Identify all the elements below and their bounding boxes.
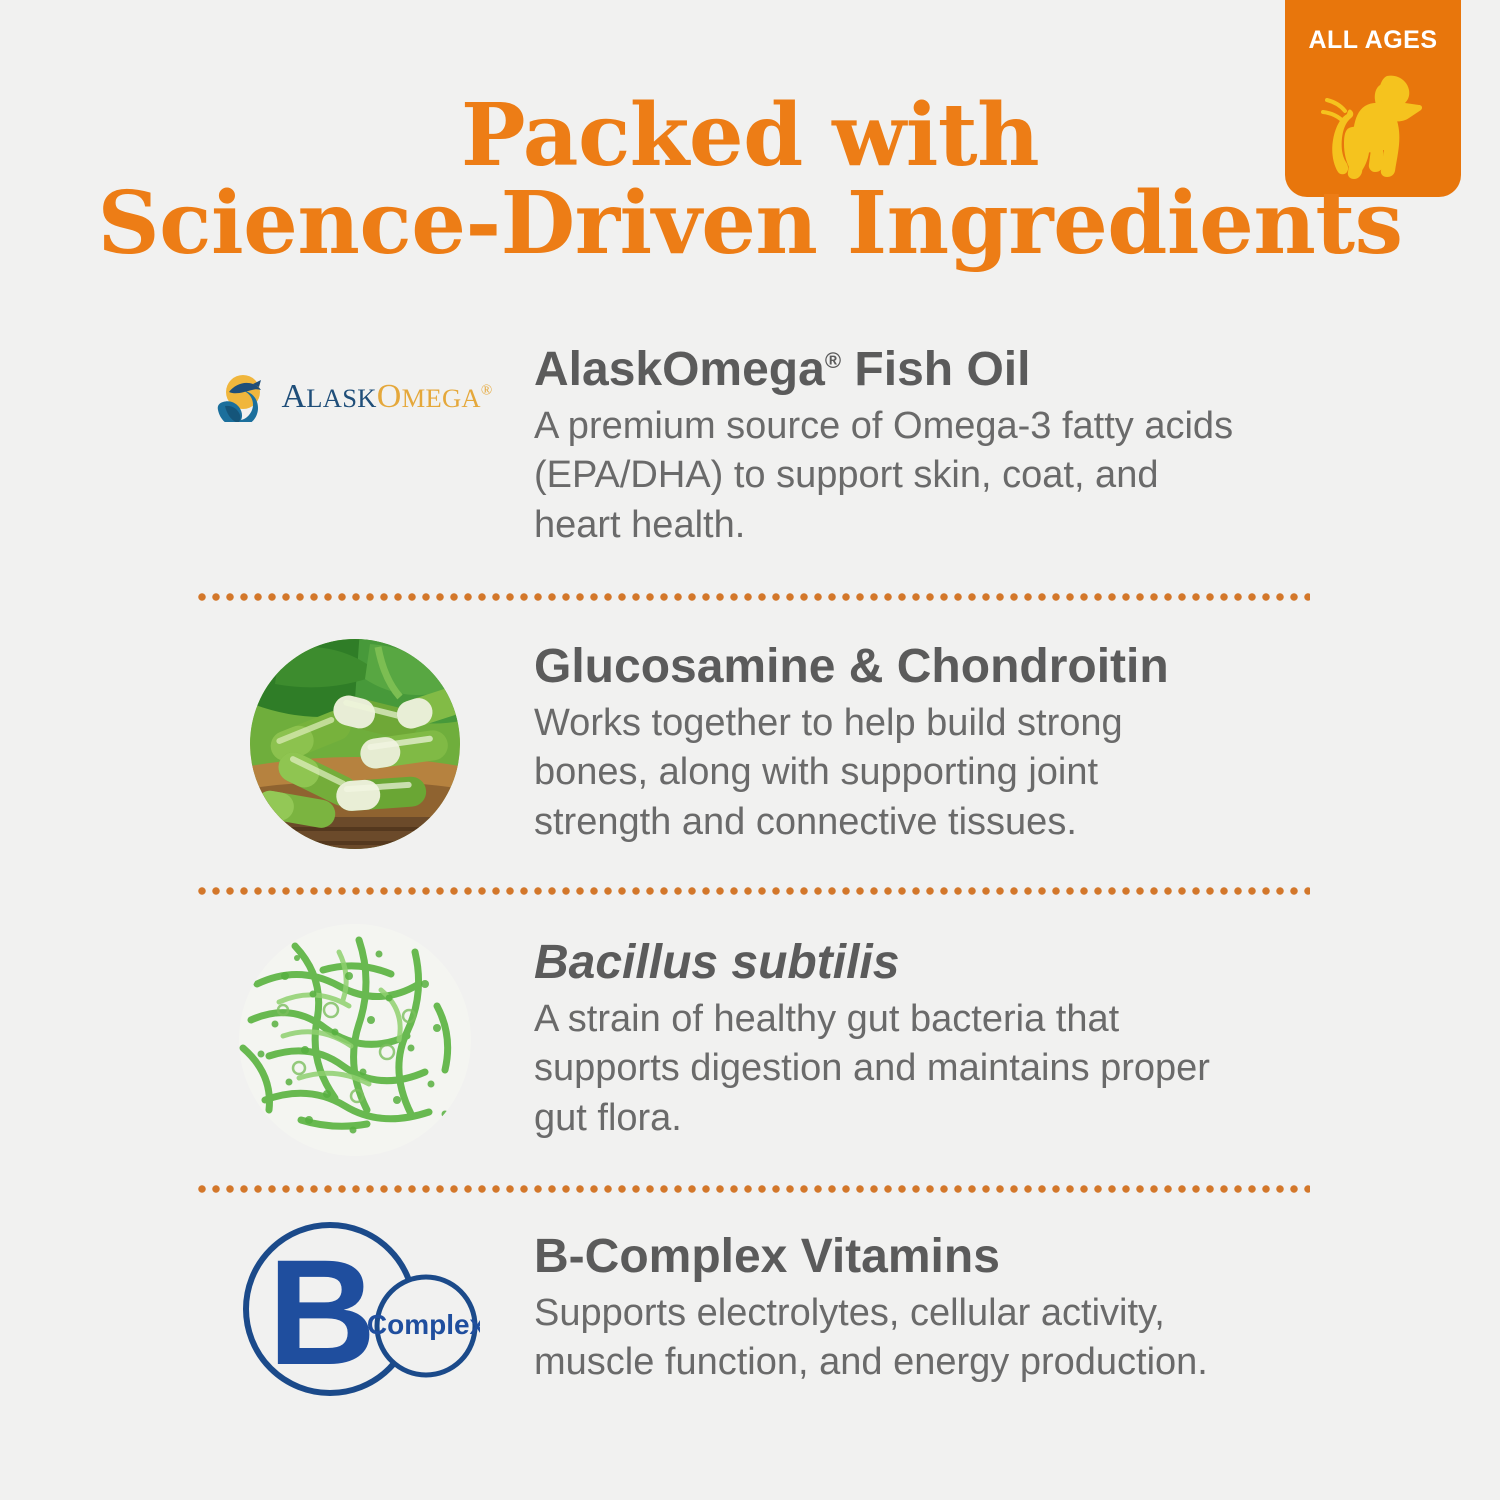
alaskomega-logo: ALASKOMEGA® <box>190 344 520 422</box>
title-line-1: Packed with <box>0 92 1500 180</box>
ingredient-text-bacillus: Bacillus subtilis A strain of healthy gu… <box>520 937 1320 1143</box>
ingredient-text-bcomplex: B-Complex Vitamins Supports electrolytes… <box>520 1231 1320 1388</box>
ingredient-description: Works together to help build strong bone… <box>534 699 1234 847</box>
title-line-2: Science-Driven Ingredients <box>0 180 1500 268</box>
b-complex-logo: B Complex <box>190 1214 520 1404</box>
svg-text:B: B <box>268 1228 376 1396</box>
ingredient-description: A strain of healthy gut bacteria that su… <box>534 995 1234 1143</box>
ingredient-text-glucosamine: Glucosamine & Chondroitin Works together… <box>520 641 1320 847</box>
ingredient-row-alaskomega: ALASKOMEGA® AlaskOmega® Fish Oil A premi… <box>0 344 1500 592</box>
ingredient-description: A premium source of Omega-3 fatty acids … <box>534 402 1234 550</box>
ingredient-text-alaskomega: AlaskOmega® Fish Oil A premium source of… <box>520 344 1320 550</box>
ingredient-description: Supports electrolytes, cellular activity… <box>534 1289 1234 1388</box>
ingredient-title: AlaskOmega® Fish Oil <box>534 344 1320 396</box>
row-divider <box>195 886 1310 896</box>
ingredient-title: B-Complex Vitamins <box>534 1231 1320 1283</box>
all-ages-label: ALL AGES <box>1285 26 1461 55</box>
ingredient-row-glucosamine: Glucosamine & Chondroitin Works together… <box>0 602 1500 886</box>
ingredient-row-bcomplex: B Complex B-Complex Vitamins Supports el… <box>0 1194 1500 1424</box>
ingredient-title: Bacillus subtilis <box>534 937 1320 989</box>
alaskomega-wordmark: ALASKOMEGA® <box>281 380 492 414</box>
row-divider <box>195 592 1310 602</box>
bacteria-microscopy-photo <box>190 924 520 1156</box>
page-title: Packed with Science-Driven Ingredients <box>0 92 1500 267</box>
alaskomega-fish-wave-icon <box>217 372 273 422</box>
ingredient-title: Glucosamine & Chondroitin <box>534 641 1320 693</box>
green-capsules-photo <box>190 639 520 849</box>
row-divider <box>195 1184 1310 1194</box>
ingredient-row-bacillus: Bacillus subtilis A strain of healthy gu… <box>0 896 1500 1184</box>
ingredient-list: ALASKOMEGA® AlaskOmega® Fish Oil A premi… <box>0 344 1500 1424</box>
b-complex-sub-label: Complex <box>367 1309 480 1340</box>
